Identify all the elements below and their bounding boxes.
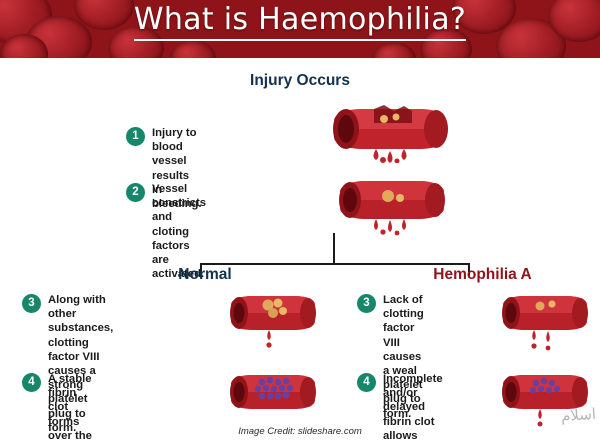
connector-horizontal <box>200 263 470 265</box>
image-credit: Image Credit: slideshare.com <box>0 426 600 437</box>
normal-branch-title: Normal <box>140 266 270 284</box>
page-title-text: What is Haemophilia? <box>134 2 466 41</box>
step-1-badge: 1 <box>126 127 145 146</box>
vessel-injury-illustration <box>330 103 450 163</box>
header-banner: What is Haemophilia? <box>0 0 600 58</box>
vessel-normal-platelet-plug-illustration <box>228 291 318 353</box>
step-2-badge: 2 <box>126 183 145 202</box>
injury-occurs-title: Injury Occurs <box>0 72 600 90</box>
connector-vertical-top <box>333 233 335 265</box>
vessel-normal-fibrin-clot-illustration <box>228 370 318 420</box>
infographic-page: What is Haemophilia? Injury Occurs 1 Inj… <box>0 0 600 442</box>
blood-cell-decoration <box>372 42 416 58</box>
hemophilia-step-4-badge: 4 <box>357 373 376 392</box>
hemophilia-step-3-badge: 3 <box>357 294 376 313</box>
watermark: اسلام <box>560 405 596 425</box>
diagram-panel: Injury Occurs 1 Injury to blood vessel r… <box>0 58 600 442</box>
page-title: What is Haemophilia? <box>0 2 600 37</box>
vessel-hemophilia-weak-plug-illustration <box>500 291 590 353</box>
normal-step-4-badge: 4 <box>22 373 41 392</box>
vessel-constricted-illustration <box>336 176 448 236</box>
normal-step-3-badge: 3 <box>22 294 41 313</box>
hemophilia-branch-title: Hemophilia A <box>395 266 570 284</box>
blood-cell-decoration <box>170 40 216 58</box>
